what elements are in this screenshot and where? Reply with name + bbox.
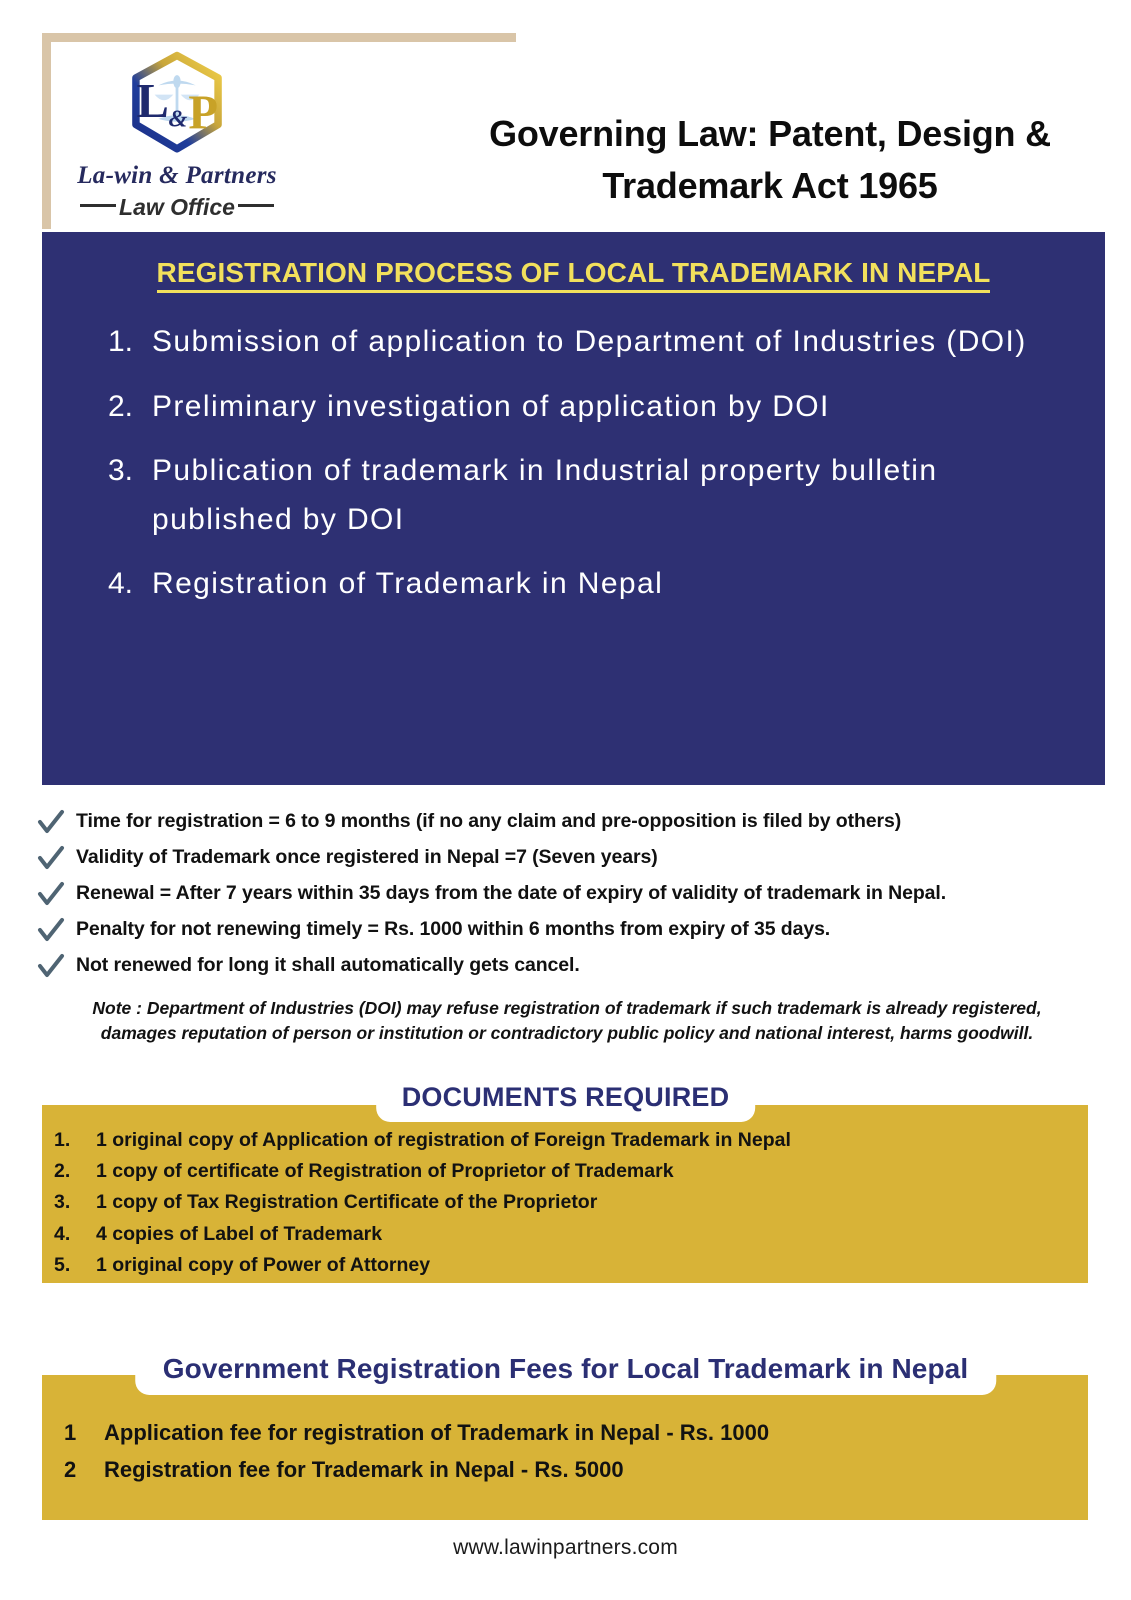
firm-name: La-win & Partners <box>62 162 292 190</box>
list-item-label: Preliminary investigation of application… <box>152 390 830 423</box>
list-item-number: 1. <box>108 318 133 367</box>
list-item-label: Publication of trademark in Industrial p… <box>152 454 937 536</box>
list-item-label: 4 copies of Label of Trademark <box>96 1223 382 1245</box>
firm-subtitle-label: Law Office <box>119 194 235 220</box>
list-item-label: 1 copy of Tax Registration Certificate o… <box>96 1191 597 1213</box>
svg-text:L: L <box>137 75 169 128</box>
list-item-number: 3. <box>54 1187 70 1218</box>
documents-required-heading: DOCUMENTS REQUIRED <box>376 1078 756 1122</box>
list-item: Time for registration = 6 to 9 months (i… <box>36 808 1106 836</box>
list-item-label: Time for registration = 6 to 9 months (i… <box>76 808 901 834</box>
list-item: 2.1 copy of certificate of Registration … <box>42 1156 1088 1187</box>
list-item: 1.1 original copy of Application of regi… <box>42 1125 1088 1156</box>
list-item-number: 3. <box>108 447 133 496</box>
svg-text:P: P <box>188 86 218 139</box>
brand-logo-block: L P & La-win & Partners Law Office <box>62 48 292 221</box>
list-item-label: Submission of application to Department … <box>152 325 1027 358</box>
list-item-label: Not renewed for long it shall automatica… <box>76 952 580 978</box>
list-item: Penalty for not renewing timely = Rs. 10… <box>36 916 1106 944</box>
list-item-number: 4. <box>54 1219 70 1250</box>
process-heading: REGISTRATION PROCESS OF LOCAL TRADEMARK … <box>42 257 1105 289</box>
list-item-number: 1. <box>54 1125 70 1156</box>
lp-hexagon-logo-icon: L P & <box>121 48 233 160</box>
list-item-label: Registration of Trademark in Nepal <box>152 567 663 600</box>
list-item-label: Registration fee for Trademark in Nepal … <box>104 1457 624 1482</box>
document-header: L P & La-win & Partners Law Office Gover… <box>0 30 1131 230</box>
documents-required-list: 1.1 original copy of Application of regi… <box>42 1125 1088 1281</box>
note-text: Note : Department of Industries (DOI) ma… <box>78 996 1056 1047</box>
rule-right <box>238 204 274 207</box>
list-item: 1.Submission of application to Departmen… <box>102 318 1062 367</box>
process-heading-label: REGISTRATION PROCESS OF LOCAL TRADEMARK … <box>157 257 991 293</box>
page-title: Governing Law: Patent, Design & Trademar… <box>440 108 1100 212</box>
list-item-number: 2. <box>54 1156 70 1187</box>
process-list: 1.Submission of application to Departmen… <box>102 318 1062 625</box>
list-item-label: 1 original copy of Power of Attorney <box>96 1254 430 1276</box>
list-item: 5.1 original copy of Power of Attorney <box>42 1250 1088 1281</box>
list-item: Not renewed for long it shall automatica… <box>36 952 1106 980</box>
list-item-number: 2 <box>64 1452 76 1489</box>
list-item: Validity of Trademark once registered in… <box>36 844 1106 872</box>
list-item: 3.1 copy of Tax Registration Certificate… <box>42 1187 1088 1218</box>
rule-left <box>80 204 116 207</box>
check-mark-icon <box>36 809 66 837</box>
list-item: 2.Preliminary investigation of applicati… <box>102 383 1062 432</box>
check-mark-icon <box>36 917 66 945</box>
list-item: 3.Publication of trademark in Industrial… <box>102 447 1062 544</box>
footer-website[interactable]: www.lawinpartners.com <box>0 1536 1131 1560</box>
list-item-label: Application fee for registration of Trad… <box>104 1420 769 1445</box>
list-item-label: 1 original copy of Application of regist… <box>96 1129 791 1151</box>
list-item: 4.4 copies of Label of Trademark <box>42 1219 1088 1250</box>
check-mark-icon <box>36 953 66 981</box>
list-item-number: 5. <box>54 1250 70 1281</box>
svg-text:&: & <box>168 105 187 132</box>
list-item-number: 1 <box>64 1415 76 1452</box>
list-item-label: Penalty for not renewing timely = Rs. 10… <box>76 916 830 942</box>
process-panel: REGISTRATION PROCESS OF LOCAL TRADEMARK … <box>42 232 1105 785</box>
list-item-number: 4. <box>108 560 133 609</box>
list-item-number: 2. <box>108 383 133 432</box>
list-item: Renewal = After 7 years within 35 days f… <box>36 880 1106 908</box>
list-item-label: Renewal = After 7 years within 35 days f… <box>76 880 946 906</box>
list-item: 1Application fee for registration of Tra… <box>42 1415 1088 1452</box>
fees-heading: Government Registration Fees for Local T… <box>135 1348 996 1395</box>
fees-list: 1Application fee for registration of Tra… <box>42 1415 1088 1488</box>
list-item-label: 1 copy of certificate of Registration of… <box>96 1160 674 1182</box>
check-mark-icon <box>36 845 66 873</box>
key-facts-list: Time for registration = 6 to 9 months (i… <box>36 808 1106 988</box>
list-item: 2Registration fee for Trademark in Nepal… <box>42 1452 1088 1489</box>
check-mark-icon <box>36 881 66 909</box>
list-item-label: Validity of Trademark once registered in… <box>76 844 658 870</box>
list-item: 4.Registration of Trademark in Nepal <box>102 560 1062 609</box>
firm-subtitle: Law Office <box>62 194 292 221</box>
